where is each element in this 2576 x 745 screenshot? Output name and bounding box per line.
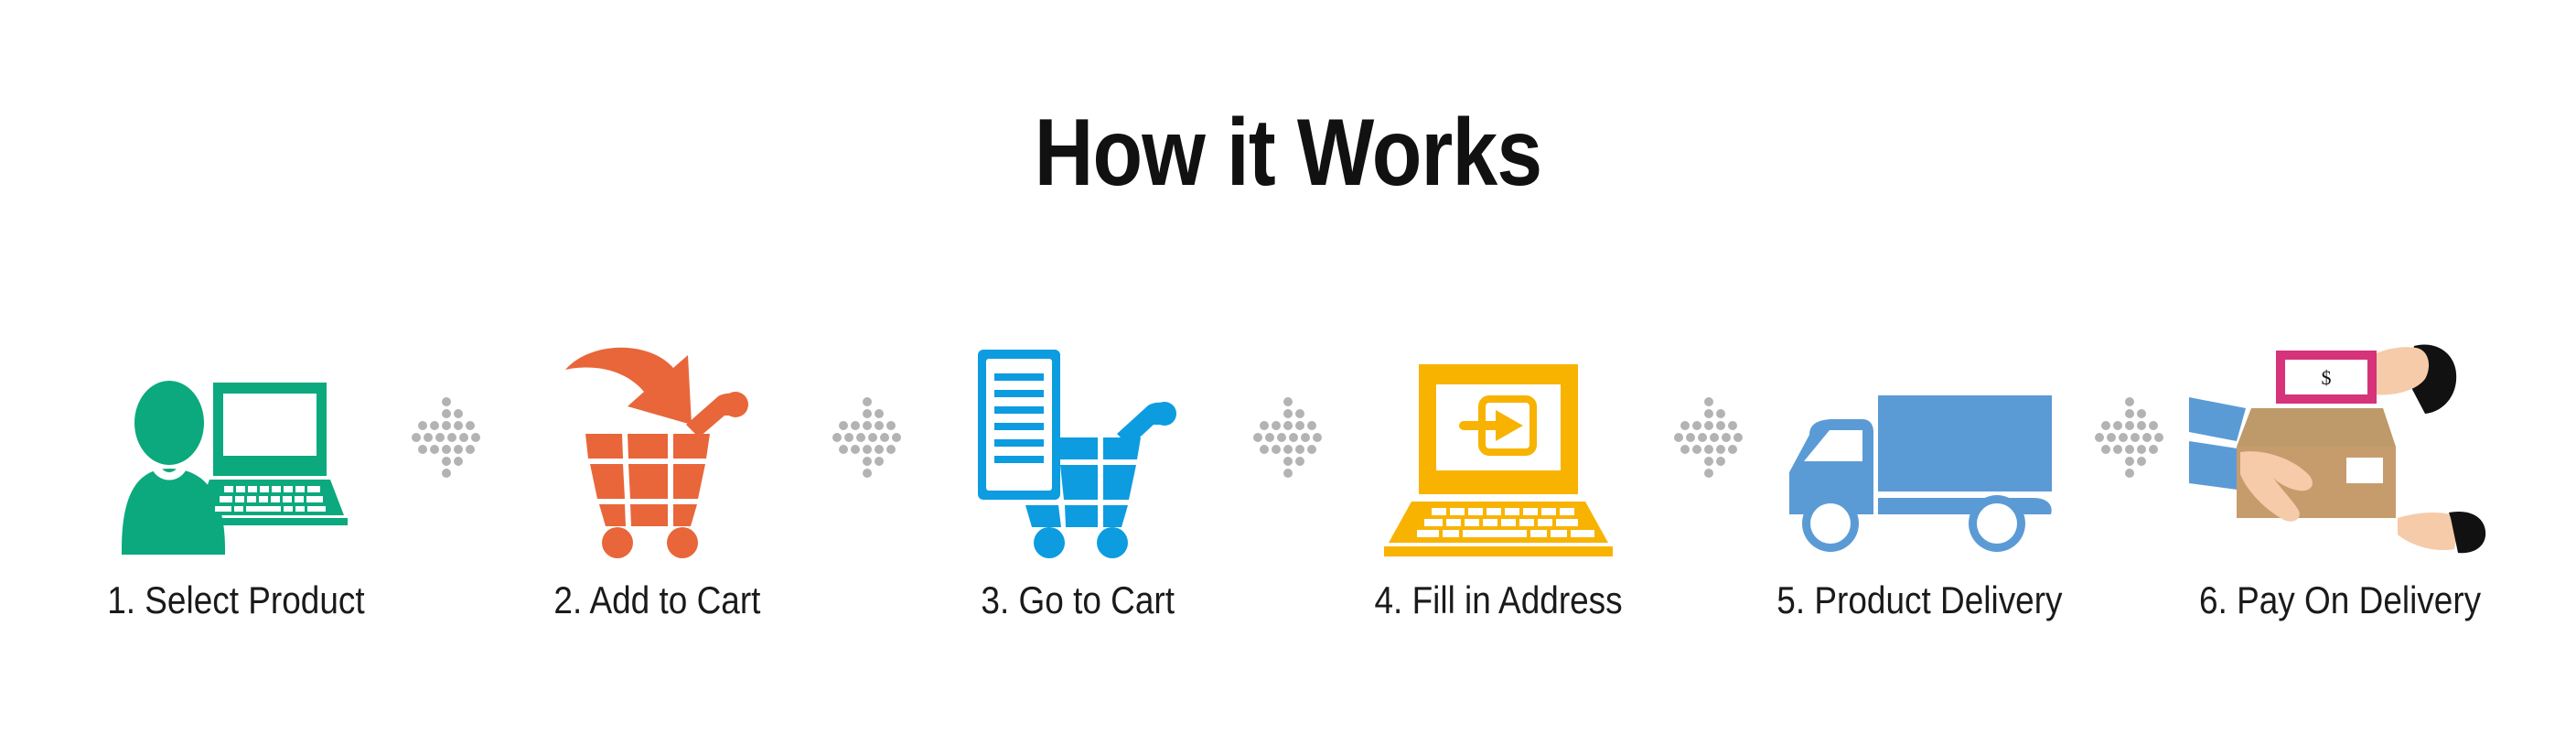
step-3-go-to-cart[interactable]: 3. Go to Cart <box>911 311 1244 622</box>
step-2-add-to-cart[interactable]: 2. Add to Cart <box>490 311 823 622</box>
how-it-works-infographic: How it Works <box>0 0 2576 745</box>
step-1-icon-wrap <box>70 329 402 558</box>
shipping-label-icon <box>2346 458 2383 483</box>
step-6-label: 6. Pay On Delivery <box>2199 578 2481 622</box>
dotted-arrow-grid <box>412 397 481 469</box>
steps-row: 1. Select Product <box>0 311 2576 622</box>
step-3-icon-wrap <box>911 329 1244 558</box>
person-laptop-icon <box>122 366 350 558</box>
step-2-icon-wrap <box>490 329 823 558</box>
cart-arrow-icon <box>560 339 754 558</box>
step-6-icon-wrap: $ <box>2173 329 2506 558</box>
step-2-label: 2. Add to Cart <box>553 578 760 622</box>
courier-sleeve-upper-icon <box>2189 397 2246 441</box>
dotted-arrow-grid <box>1253 397 1323 469</box>
dollar-sign-label: $ <box>2322 366 2332 389</box>
box-top-face <box>2237 408 2396 447</box>
customer-hand-lower-icon <box>2398 513 2460 550</box>
step-5-label: 5. Product Delivery <box>1776 578 2062 622</box>
step-4-icon-wrap <box>1332 329 1665 558</box>
step-3-label: 3. Go to Cart <box>981 578 1175 622</box>
dotted-arrow-1 <box>402 311 490 622</box>
document-cart-icon <box>978 350 1177 558</box>
dotted-arrow-grid <box>1674 397 1744 469</box>
step-4-fill-in-address[interactable]: 4. Fill in Address <box>1332 311 1665 622</box>
page-title: How it Works <box>180 99 2396 208</box>
step-5-icon-wrap <box>1753 329 2086 558</box>
step-5-product-delivery[interactable]: 5. Product Delivery <box>1753 311 2086 622</box>
hands-box-money-icon: $ <box>2189 329 2491 558</box>
dotted-arrow-4 <box>1665 311 1753 622</box>
dotted-arrow-5 <box>2086 311 2173 622</box>
dotted-arrow-2 <box>823 311 911 622</box>
laptop-login-icon <box>1384 364 1613 558</box>
dotted-arrow-3 <box>1244 311 1332 622</box>
step-6-pay-on-delivery[interactable]: $ 6. Pay <box>2173 311 2506 622</box>
step-4-label: 4. Fill in Address <box>1374 578 1622 622</box>
delivery-truck-icon <box>1782 384 2056 558</box>
step-1-select-product[interactable]: 1. Select Product <box>70 311 402 622</box>
dotted-arrow-grid <box>832 397 902 469</box>
step-1-label: 1. Select Product <box>107 578 364 622</box>
dotted-arrow-grid <box>2095 397 2164 469</box>
